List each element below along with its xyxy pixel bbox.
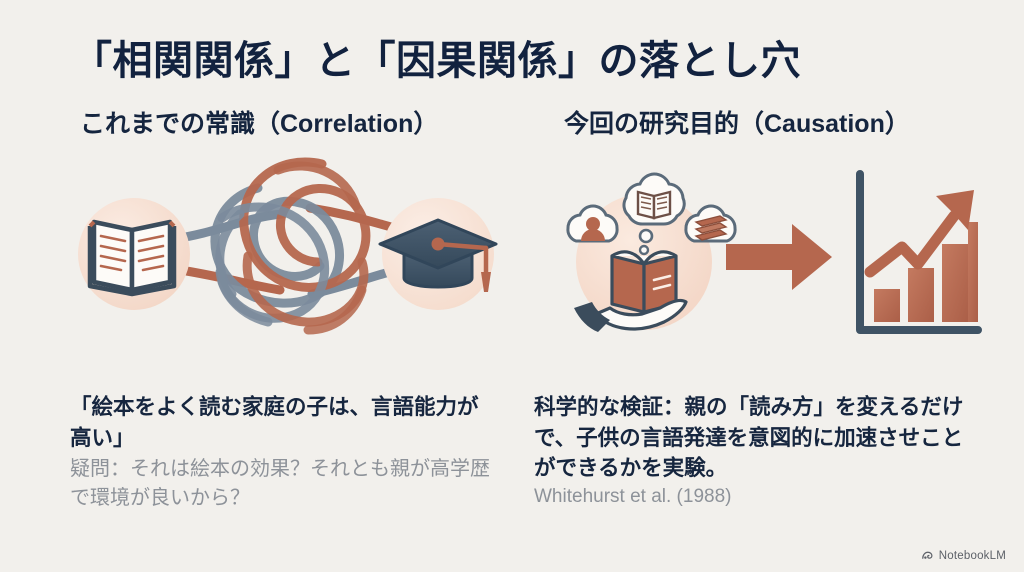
causal-experiment-illustration bbox=[534, 144, 984, 359]
column-correlation: これまでの常識（Correlation） bbox=[72, 104, 502, 359]
bar-1 bbox=[874, 289, 900, 322]
correlation-graphic bbox=[72, 144, 502, 359]
open-book-icon bbox=[624, 174, 684, 224]
page-title: 「相関関係」と「因果関係」の落とし穴 bbox=[72, 28, 801, 86]
causation-lead-text: 科学的な検証：親の「読み方」を変えるだけで、子供の言語発達を意図的に加速させこと… bbox=[534, 392, 979, 484]
causation-citation: Whitehurst et al. (1988) bbox=[534, 486, 979, 508]
column-causation: 今回の研究目的（Causation） bbox=[534, 104, 984, 359]
notebooklm-watermark: NotebookLM bbox=[921, 549, 1006, 562]
notebooklm-icon bbox=[921, 549, 934, 562]
correlation-sub-text: 疑問：それは絵本の効果？それとも親が高学歴で環境が良いから？ bbox=[70, 455, 490, 513]
causation-graphic bbox=[534, 144, 984, 359]
bar-4 bbox=[968, 222, 978, 322]
right-arrow-icon bbox=[726, 224, 832, 290]
tangled-knot-icon bbox=[215, 162, 366, 330]
open-book-icon bbox=[90, 222, 174, 294]
stacked-books-icon bbox=[686, 206, 735, 241]
column-heading-causation: 今回の研究目的（Causation） bbox=[564, 104, 984, 140]
slide-canvas: 「相関関係」と「因果関係」の落とし穴 これまでの常識（Correlation） bbox=[0, 0, 1024, 572]
correlation-lead-text: 「絵本をよく読む家庭の子は、言語能力が高い」 bbox=[70, 392, 490, 453]
tangled-correlation-illustration bbox=[72, 144, 502, 359]
body-correlation: 「絵本をよく読む家庭の子は、言語能力が高い」 疑問：それは絵本の効果？それとも親… bbox=[70, 392, 490, 513]
growth-bar-chart-icon bbox=[860, 174, 978, 330]
bar-3 bbox=[942, 244, 968, 322]
body-causation: 科学的な検証：親の「読み方」を変えるだけで、子供の言語発達を意図的に加速させこと… bbox=[534, 392, 979, 508]
bar-2 bbox=[908, 268, 934, 322]
notebooklm-label: NotebookLM bbox=[939, 550, 1006, 562]
column-heading-correlation: これまでの常識（Correlation） bbox=[80, 104, 502, 140]
